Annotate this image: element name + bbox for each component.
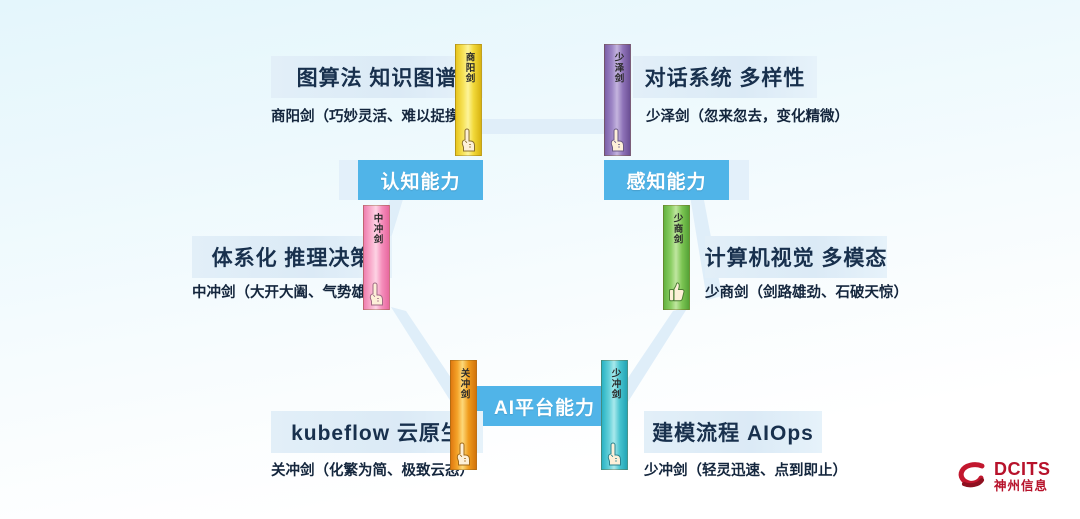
- node-caption-dialogue-system: 少泽剑（忽来忽去，变化精微）: [646, 105, 849, 126]
- pointing-finger-icon: [366, 279, 388, 307]
- capability-badge-perception[interactable]: 感知能力: [604, 160, 729, 200]
- dcits-swirl-icon: [955, 459, 989, 493]
- sword-pill-zhongchongjian[interactable]: 中冲剑: [363, 205, 390, 310]
- sword-label: 少冲剑: [610, 368, 620, 400]
- node-banner-modeling-aiops[interactable]: 建模流程 AIOps: [644, 411, 822, 453]
- node-caption-kubeflow-cloudnative: 关冲剑（化繁为简、极致云态）: [271, 459, 474, 480]
- sword-pill-shaochongjian[interactable]: 少冲剑: [601, 360, 628, 470]
- node-banner-label: 计算机视觉 多模态: [705, 242, 888, 272]
- node-banner-label: 体系化 推理决策: [212, 242, 373, 272]
- sword-pill-guanchongjian[interactable]: 关冲剑: [450, 360, 477, 470]
- node-banner-systematic-reasoning[interactable]: 体系化 推理决策: [192, 236, 392, 278]
- pointing-finger-icon: [604, 439, 626, 467]
- capability-badge-platform[interactable]: AI平台能力: [477, 386, 612, 426]
- diagram-canvas: 认知能力 感知能力 AI平台能力 图算法 知识图谱 商阳剑（巧妙灵活、难以捉摸）…: [0, 0, 1080, 519]
- logo-en-text: DCITS: [994, 460, 1051, 478]
- node-banner-label: 图算法 知识图谱: [297, 62, 458, 92]
- capability-label: 感知能力: [626, 167, 706, 194]
- node-banner-label: kubeflow 云原生: [291, 417, 463, 447]
- hexagon-connector-ring: [0, 0, 1080, 519]
- capability-label: 认知能力: [380, 167, 460, 194]
- sword-pill-shangyangjian[interactable]: 商阳剑: [455, 44, 482, 156]
- sword-label: 少泽剑: [613, 52, 623, 84]
- pointing-finger-icon: [453, 439, 475, 467]
- node-banner-dialogue-system[interactable]: 对话系统 多样性: [633, 56, 817, 98]
- sword-label: 商阳剑: [464, 52, 474, 84]
- sword-label: 关冲剑: [459, 368, 469, 400]
- sword-pill-shaoshangjian[interactable]: 少商剑: [663, 205, 690, 310]
- pointing-finger-icon: [607, 125, 629, 153]
- sword-label: 中冲剑: [372, 213, 382, 245]
- node-banner-label: 建模流程 AIOps: [652, 417, 814, 447]
- logo-cn-text: 神州信息: [994, 480, 1051, 493]
- company-logo: DCITS 神州信息: [955, 459, 1051, 493]
- sword-label: 少商剑: [672, 213, 682, 245]
- capability-badge-cognitive[interactable]: 认知能力: [358, 160, 483, 200]
- node-caption-graph-algorithm: 商阳剑（巧妙灵活、难以捉摸）: [271, 105, 474, 126]
- node-banner-computer-vision[interactable]: 计算机视觉 多模态: [705, 236, 887, 278]
- node-caption-computer-vision: 少商剑（剑路雄劲、石破天惊）: [705, 281, 908, 302]
- pointing-finger-icon: [458, 125, 480, 153]
- sword-pill-shaozejian[interactable]: 少泽剑: [604, 44, 631, 156]
- capability-label: AI平台能力: [494, 393, 595, 420]
- thumbs-up-icon: [666, 279, 688, 307]
- node-banner-label: 对话系统 多样性: [645, 62, 806, 92]
- node-caption-modeling-aiops: 少冲剑（轻灵迅速、点到即止）: [644, 459, 847, 480]
- node-banner-graph-algorithm[interactable]: 图算法 知识图谱: [271, 56, 483, 98]
